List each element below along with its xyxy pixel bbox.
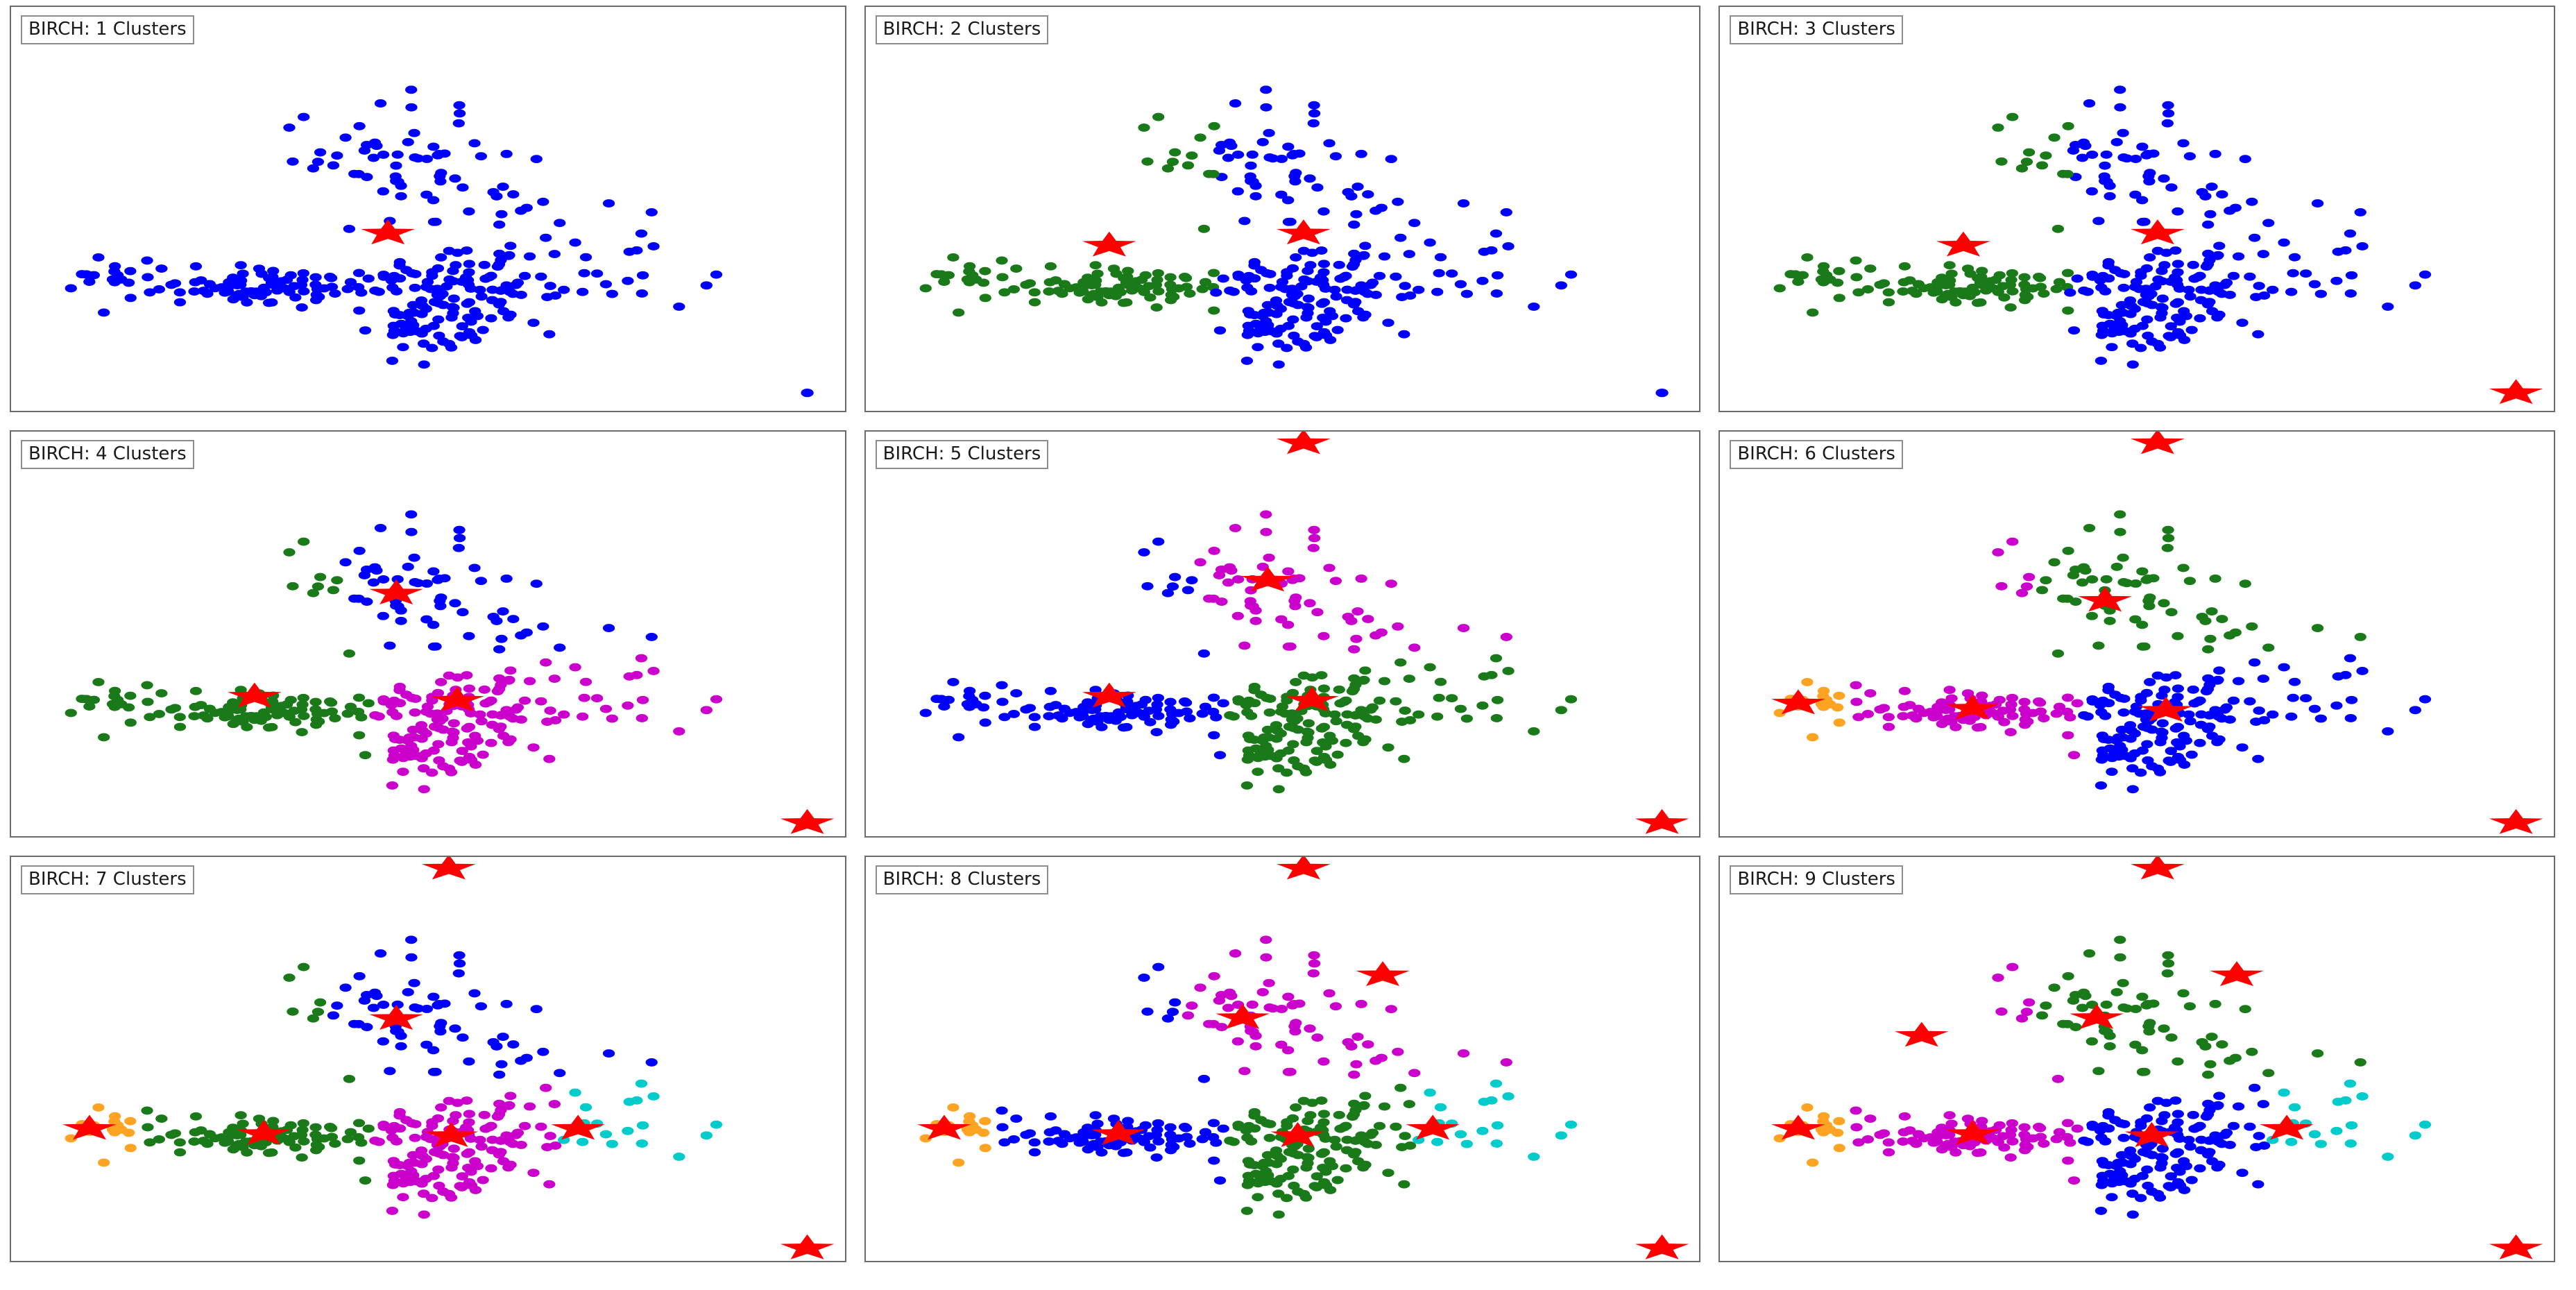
data-point: [2005, 1153, 2017, 1162]
data-point: [1208, 694, 1220, 702]
data-point: [2357, 667, 2369, 675]
data-point: [174, 288, 186, 296]
data-point: [2086, 1037, 2098, 1045]
data-point: [1272, 1210, 1284, 1219]
data-point: [443, 672, 455, 680]
data-point: [2253, 282, 2265, 290]
data-point: [421, 1005, 433, 1013]
data-point: [388, 322, 400, 330]
data-point: [2019, 1130, 2031, 1139]
data-point: [1276, 703, 1288, 711]
data-point: [1350, 210, 1362, 219]
data-point: [1834, 1117, 1845, 1125]
data-point: [1864, 1114, 1876, 1123]
data-point-layer: [919, 85, 1577, 368]
data-point: [1435, 253, 1447, 262]
data-point: [1392, 1048, 1404, 1056]
data-point: [1109, 292, 1121, 300]
data-point: [1944, 261, 1956, 269]
centroid-star-icon: [2260, 1114, 2314, 1139]
data-point: [1255, 691, 1267, 699]
data-point: [2289, 1103, 2301, 1111]
data-point: [485, 739, 497, 747]
data-point: [1385, 1005, 1397, 1013]
scatter-canvas: [866, 432, 1700, 835]
data-point: [2086, 612, 2098, 620]
data-point: [2206, 183, 2218, 191]
data-point: [1196, 710, 1208, 718]
data-point: [2097, 1171, 2108, 1180]
data-point: [1333, 1111, 1345, 1119]
data-point: [1073, 713, 1085, 722]
data-point: [1274, 749, 1286, 758]
data-point: [2005, 728, 2017, 736]
data-point: [2267, 711, 2278, 719]
data-point: [2139, 643, 2151, 651]
data-point: [2162, 119, 2174, 128]
data-point: [1851, 1123, 1863, 1131]
data-point: [408, 1158, 420, 1166]
data-point: [2152, 672, 2164, 680]
data-point: [2285, 713, 2297, 721]
data-point: [266, 1148, 278, 1157]
data-point: [1240, 357, 1252, 365]
data-point: [2206, 607, 2218, 616]
data-point: [377, 612, 389, 620]
data-point: [535, 1122, 547, 1130]
data-point: [1263, 153, 1275, 162]
data-point: [2129, 1174, 2141, 1182]
data-point: [549, 674, 561, 683]
data-point: [1341, 721, 1353, 729]
data-point: [1359, 1092, 1371, 1100]
data-point: [1213, 146, 1225, 155]
data-point: [2163, 526, 2174, 534]
data-point: [1476, 702, 1488, 710]
data-point: [453, 526, 465, 534]
data-point: [1454, 1130, 1466, 1138]
data-point: [554, 644, 565, 652]
data-point: [2097, 1157, 2108, 1165]
data-point: [1120, 723, 1132, 731]
data-point: [647, 1092, 659, 1101]
data-point: [312, 158, 324, 166]
data-point: [1774, 285, 1786, 293]
data-point: [2067, 996, 2079, 1005]
data-point: [2158, 1024, 2170, 1033]
data-point: [1231, 612, 1243, 620]
data-point: [1150, 1153, 1162, 1162]
data-point: [1028, 1148, 1040, 1156]
data-point: [266, 298, 278, 307]
data-point: [2064, 713, 2076, 722]
data-point: [405, 953, 417, 961]
data-point: [418, 786, 430, 794]
data-point: [1229, 524, 1241, 532]
data-point: [1256, 138, 1268, 146]
data-point: [125, 719, 137, 727]
data-point: [1370, 1056, 1381, 1064]
data-point: [2172, 1110, 2184, 1118]
data-point: [493, 685, 505, 693]
data-point: [507, 1040, 519, 1049]
data-point: [2124, 1146, 2136, 1155]
data-point: [391, 287, 402, 296]
data-point: [165, 706, 177, 714]
data-point: [2078, 988, 2090, 996]
data-point: [1326, 737, 1338, 745]
data-point: [531, 155, 543, 163]
centroid-star-icon: [781, 809, 835, 834]
data-point: [1275, 155, 1287, 163]
data-point: [1974, 298, 1986, 307]
data-point: [395, 606, 407, 615]
data-point: [443, 340, 455, 348]
data-point: [1454, 705, 1466, 713]
data-point: [1862, 1135, 1874, 1144]
data-point: [1373, 697, 1385, 705]
data-point: [2005, 303, 2017, 312]
data-point: [313, 718, 325, 726]
data-point: [409, 1003, 420, 1012]
data-point: [2163, 110, 2174, 118]
scatter-panel-4-clusters: BIRCH: 4 Clusters: [10, 430, 846, 837]
data-point: [1263, 309, 1274, 317]
data-point: [435, 594, 447, 602]
data-point: [2049, 133, 2061, 142]
data-point: [359, 326, 371, 334]
data-point: [1431, 713, 1443, 721]
data-point: [2178, 1186, 2190, 1194]
data-point: [387, 331, 399, 339]
data-point: [1197, 225, 1209, 233]
data-point: [507, 190, 519, 198]
data-point: [463, 1118, 475, 1126]
data-point: [1355, 706, 1367, 715]
data-point: [1883, 723, 1895, 731]
data-point: [504, 1092, 516, 1100]
data-point: [636, 1079, 647, 1087]
data-point: [443, 1189, 455, 1198]
data-point: [2246, 1048, 2258, 1056]
data-point: [1490, 714, 1502, 722]
data-point-layer: [65, 511, 723, 794]
data-point: [710, 271, 722, 279]
data-point: [1091, 1143, 1103, 1151]
data-point: [388, 747, 400, 755]
data-point: [285, 271, 297, 280]
data-point: [2331, 277, 2343, 285]
data-point: [165, 1130, 177, 1139]
data-point: [1231, 1037, 1243, 1045]
data-point: [313, 1143, 325, 1151]
data-point: [1152, 113, 1164, 121]
data-point: [600, 705, 612, 713]
data-point: [497, 1157, 509, 1165]
data-point-layer: [1774, 935, 2432, 1219]
data-point: [1424, 1088, 1435, 1096]
data-point: [327, 586, 339, 595]
data-point: [1281, 268, 1293, 276]
data-point: [486, 296, 498, 305]
data-point: [1290, 678, 1302, 686]
data-point: [1297, 765, 1309, 773]
data-point: [420, 1174, 432, 1182]
data-point: [2213, 241, 2225, 250]
data-point: [606, 290, 618, 298]
data-point: [1317, 1118, 1329, 1126]
data-point: [1210, 713, 1222, 722]
data-point: [461, 300, 473, 308]
data-point: [395, 617, 407, 625]
data-point: [537, 198, 549, 206]
data-point: [2197, 188, 2208, 196]
data-point: [1350, 635, 1362, 643]
panel-title-label: BIRCH: 5 Clusters: [876, 440, 1049, 469]
data-point: [2237, 1169, 2249, 1177]
data-point: [1974, 1148, 1986, 1157]
centroid-star-icon: [1635, 809, 1689, 834]
data-point: [457, 1033, 468, 1042]
data-point: [1326, 1162, 1338, 1170]
data-point: [524, 1102, 536, 1110]
data-point: [2289, 678, 2301, 686]
data-point: [1152, 962, 1164, 971]
data-point: [2063, 122, 2074, 130]
data-point: [2144, 253, 2156, 262]
data-point: [1348, 645, 1360, 654]
data-point: [1217, 699, 1229, 708]
data-point: [384, 1067, 395, 1075]
data-point: [2172, 207, 2184, 216]
data-point: [1446, 269, 1458, 278]
data-point: [1834, 1144, 1845, 1152]
data-point: [535, 273, 547, 281]
data-point: [443, 765, 455, 773]
data-point: [636, 1139, 648, 1148]
data-point: [2184, 1002, 2196, 1010]
data-point: [2195, 1146, 2207, 1154]
data-point: [1152, 694, 1163, 702]
data-point: [1490, 1079, 1501, 1087]
data-point: [1993, 288, 2004, 296]
data-point: [2197, 1038, 2208, 1046]
data-point: [1242, 322, 1254, 330]
data-point: [1263, 284, 1275, 292]
data-point: [1210, 1138, 1222, 1146]
data-point: [448, 1144, 460, 1153]
data-point: [673, 727, 685, 736]
data-point: [1993, 1137, 2004, 1146]
data-point: [2237, 744, 2249, 752]
data-point: [420, 749, 432, 758]
data-point: [2213, 667, 2225, 675]
data-point: [1317, 685, 1329, 693]
data-point: [1279, 710, 1291, 718]
data-point: [298, 1119, 309, 1127]
data-point: [1260, 953, 1272, 961]
data-point: [470, 1186, 481, 1194]
data-point: [2345, 714, 2357, 722]
data-point: [1058, 1130, 1070, 1138]
data-point: [353, 694, 365, 702]
data-point: [429, 643, 441, 651]
data-point: [1139, 271, 1151, 280]
data-point: [353, 269, 365, 277]
data-point: [2111, 988, 2123, 996]
data-point: [540, 659, 552, 667]
data-point: [2170, 1150, 2182, 1158]
data-point: [2205, 1060, 2217, 1068]
data-point-layer: [919, 511, 1577, 794]
data-point: [1913, 1130, 1925, 1138]
data-point: [537, 1048, 549, 1056]
data-point: [390, 162, 402, 170]
data-point: [2419, 695, 2431, 704]
data-point: [468, 139, 480, 148]
data-point: [435, 678, 447, 686]
data-point: [165, 280, 177, 289]
data-point: [1282, 143, 1294, 151]
data-point: [472, 737, 484, 745]
data-point: [1290, 253, 1302, 262]
data-point: [2189, 275, 2201, 283]
data-point: [363, 1124, 375, 1132]
data-point: [1194, 983, 1206, 992]
data-point: [408, 733, 420, 742]
data-point: [1242, 307, 1254, 315]
data-point: [579, 694, 590, 702]
data-point: [479, 275, 491, 283]
data-point: [636, 230, 647, 238]
data-point: [2340, 671, 2352, 679]
data-point: [1850, 256, 1862, 264]
data-point: [1555, 706, 1567, 715]
data-point: [409, 153, 420, 162]
data-point: [355, 1138, 367, 1146]
data-point: [996, 1123, 1008, 1131]
data-point: [2118, 578, 2130, 586]
data-point: [190, 687, 202, 695]
data-point: [541, 293, 553, 301]
data-point: [1502, 1092, 1514, 1101]
data-point: [155, 689, 167, 697]
centroid-star-icon: [1082, 232, 1136, 257]
data-point: [453, 119, 465, 128]
data-point: [2124, 296, 2136, 305]
data-point: [2101, 1000, 2113, 1008]
data-point: [418, 360, 430, 368]
data-point: [298, 113, 309, 121]
data-point: [2340, 246, 2352, 255]
data-point: [2206, 1033, 2218, 1041]
data-point: [486, 721, 498, 729]
data-point: [2130, 579, 2142, 588]
data-point: [2083, 99, 2095, 108]
data-point: [549, 1100, 561, 1108]
data-point: [2172, 632, 2184, 640]
data-point: [1295, 282, 1307, 291]
data-point: [2157, 720, 2169, 728]
data-point: [1249, 1031, 1261, 1039]
data-point: [255, 292, 267, 300]
data-point: [1248, 683, 1260, 691]
data-point: [2021, 158, 2033, 166]
data-point: [1996, 582, 2008, 591]
data-point: [1342, 188, 1354, 196]
data-point: [298, 1137, 309, 1146]
data-point: [174, 298, 186, 307]
data-point: [2096, 1180, 2108, 1189]
data-point: [1043, 1137, 1055, 1146]
data-point: [2022, 293, 2033, 301]
data-point: [636, 289, 648, 298]
data-point: [1311, 183, 1323, 192]
data-point: [314, 148, 326, 157]
data-point: [1248, 1108, 1260, 1117]
data-point: [352, 595, 364, 603]
data-point: [1528, 1153, 1539, 1161]
data-point: [1260, 317, 1272, 325]
data-point: [1243, 272, 1254, 280]
data-point: [963, 267, 975, 275]
data-point: [1996, 158, 2008, 166]
data-point: [1408, 644, 1420, 652]
data-point: [1329, 286, 1340, 294]
data-point: [1315, 1150, 1327, 1158]
data-point: [2104, 617, 2116, 625]
data-point: [339, 983, 351, 992]
data-point: [2139, 1067, 2151, 1076]
data-point: [647, 242, 659, 251]
data-point: [324, 273, 336, 281]
data-point: [1223, 988, 1235, 996]
data-point: [500, 1131, 512, 1139]
panel-title-label: BIRCH: 9 Clusters: [1730, 865, 1903, 894]
data-point: [1370, 207, 1381, 215]
data-point: [2206, 1157, 2218, 1165]
data-point: [493, 1070, 505, 1078]
data-point: [298, 287, 309, 296]
data-point: [1974, 279, 1986, 287]
data-point: [2163, 101, 2174, 110]
data-point: [2082, 1137, 2094, 1146]
data-point: [1043, 287, 1055, 296]
data-point: [527, 744, 539, 752]
data-point: [392, 151, 404, 159]
data-point: [2124, 721, 2136, 729]
data-point: [1390, 273, 1401, 281]
scatter-panel-7-clusters: BIRCH: 7 Clusters: [10, 856, 846, 1262]
data-point: [98, 1158, 110, 1166]
data-point: [2244, 273, 2256, 281]
data-point: [1263, 129, 1274, 137]
data-point: [124, 267, 136, 275]
data-point: [477, 751, 488, 759]
data-point-layer: [65, 935, 723, 1219]
data-point: [1317, 632, 1329, 640]
data-point: [504, 241, 516, 250]
data-point: [1270, 721, 1281, 729]
data-point: [1275, 191, 1287, 199]
data-point: [1334, 699, 1346, 708]
data-point: [1141, 158, 1153, 166]
data-point: [2250, 1143, 2262, 1151]
data-point: [947, 678, 959, 686]
data-point: [474, 286, 486, 294]
panel-grid: BIRCH: 1 ClustersBIRCH: 2 ClustersBIRCH:…: [0, 0, 2576, 1290]
data-point: [1272, 786, 1284, 794]
